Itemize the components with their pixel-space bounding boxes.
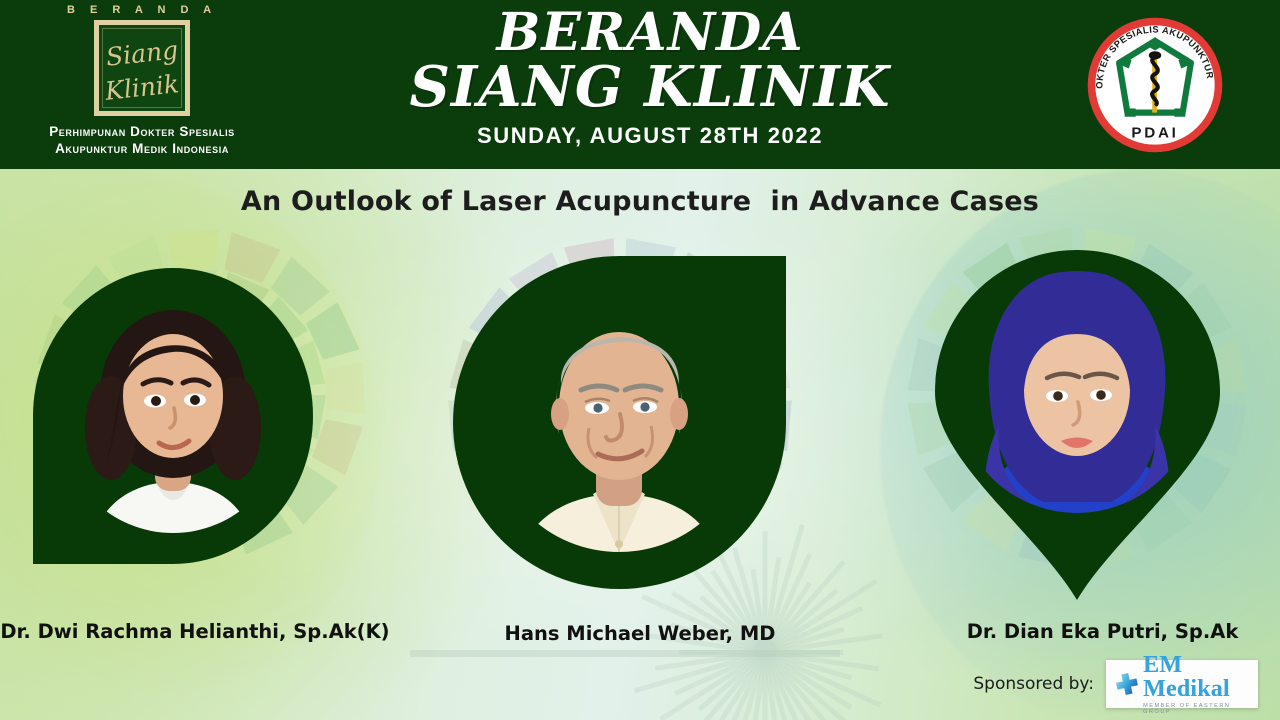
speaker-photo-frame-1 <box>33 268 313 564</box>
speaker-name-2: Hans Michael Weber, MD <box>440 622 840 645</box>
speaker-avatar-1 <box>33 268 313 564</box>
medical-cross-icon <box>1113 669 1139 699</box>
brand-logo-box: Siang Klinik <box>94 20 190 116</box>
sponsor-block: Sponsored by: EM Medikal MEMBER OF EASTE… <box>973 660 1258 708</box>
em-medikal-logo: EM Medikal MEMBER OF EASTERN GROUP <box>1106 660 1258 708</box>
pdai-logo-svg: PERHIMPUNAN DOKTER SPESIALIS AKUPUNKTUR … <box>1086 16 1224 154</box>
speaker-name-3: Dr. Dian Eka Putri, Sp.Ak <box>925 620 1280 643</box>
event-title-line1: BERANDA <box>300 8 1000 57</box>
speaker-name-1: Dr. Dwi Rachma Helianthi, Sp.Ak(K) <box>0 620 390 643</box>
brand-org-line2: Akupunktur Medik Indonesia <box>0 140 284 157</box>
session-subtitle: An Outlook of Laser Acupuncture in Advan… <box>0 186 1280 217</box>
speaker-photo-frame-2 <box>453 256 786 589</box>
ring-segment <box>167 230 219 270</box>
beranda-logo: B E R A N D A Siang Klinik Perhimpunan D… <box>0 4 284 158</box>
em-medikal-tagline: MEMBER OF EASTERN GROUP <box>1143 704 1258 715</box>
header-band: B E R A N D A Siang Klinik Perhimpunan D… <box>0 0 1280 169</box>
em-medikal-text-group: EM Medikal MEMBER OF EASTERN GROUP <box>1143 653 1258 715</box>
pdai-logo: PERHIMPUNAN DOKTER SPESIALIS AKUPUNKTUR … <box>1086 16 1224 154</box>
sponsored-by-label: Sponsored by: <box>973 674 1094 694</box>
brand-org-name: Perhimpunan Dokter Spesialis Akupunktur … <box>0 123 284 158</box>
em-medikal-name: EM Medikal <box>1143 653 1258 701</box>
speaker-avatar-2 <box>453 256 786 589</box>
event-date: SUNDAY, AUGUST 28TH 2022 <box>300 123 1000 149</box>
poster-canvas: B E R A N D A Siang Klinik Perhimpunan D… <box>0 0 1280 720</box>
ring-segment <box>325 362 365 414</box>
brand-top-text: B E R A N D A <box>0 4 284 16</box>
event-title-group: BERANDA SIANG KLINIK SUNDAY, AUGUST 28TH… <box>300 8 1000 149</box>
event-title-line2: SIANG KLINIK <box>300 61 1000 114</box>
speaker-photo-frame-3 <box>935 250 1220 600</box>
speaker-avatar-3 <box>935 250 1220 600</box>
pdai-acronym: PDAI <box>1131 124 1178 141</box>
brand-org-line1: Perhimpunan Dokter Spesialis <box>0 123 284 140</box>
